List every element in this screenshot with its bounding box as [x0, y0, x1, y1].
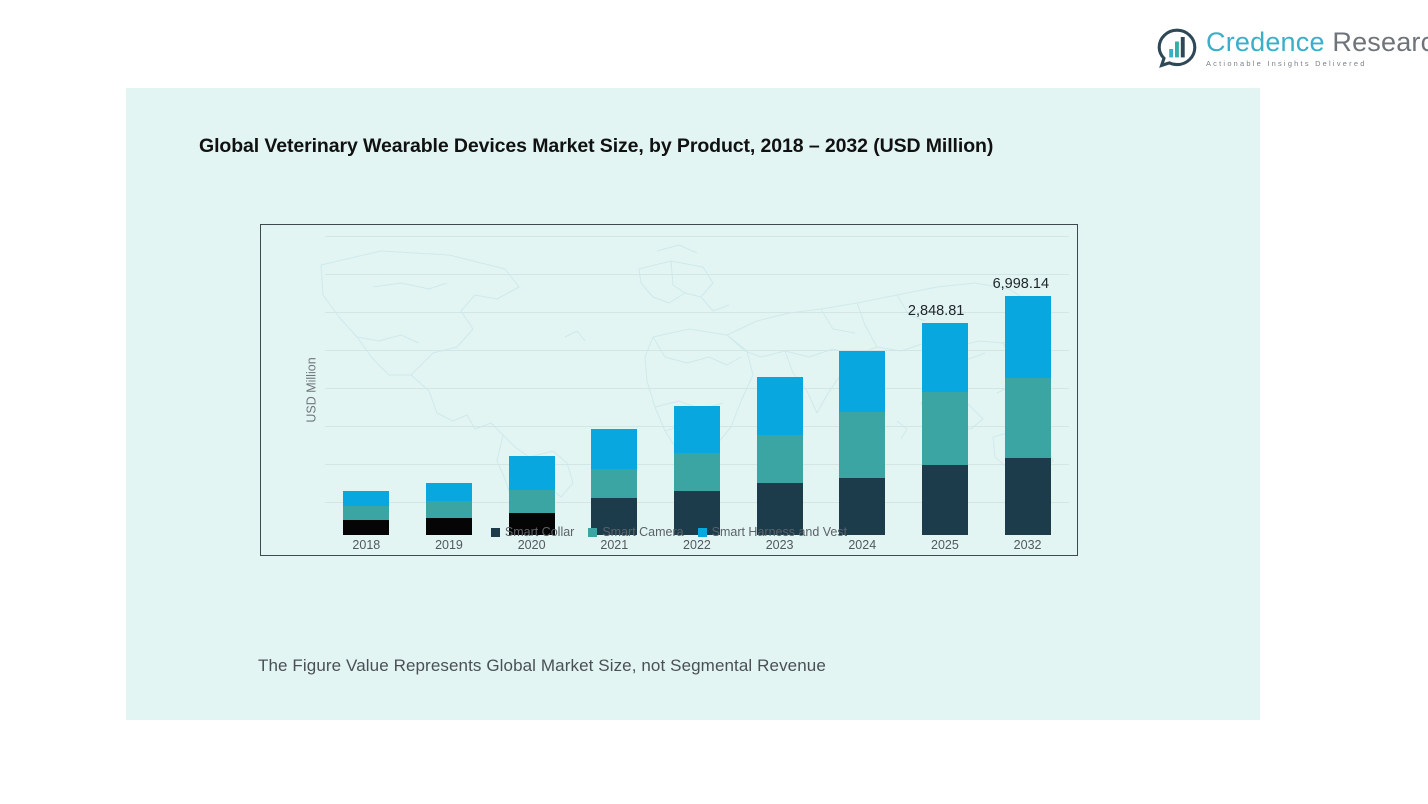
bar-group-2024[interactable] — [839, 225, 885, 535]
chart-footnote: The Figure Value Represents Global Marke… — [258, 656, 826, 676]
segment-smart-camera[interactable] — [922, 392, 968, 465]
x-tick-2032: 2032 — [1005, 538, 1051, 552]
x-tick-2024: 2024 — [839, 538, 885, 552]
segment-smart-harness-and-vest[interactable] — [674, 406, 720, 453]
stacked-bar[interactable] — [1005, 296, 1051, 535]
legend-label-smart-camera: Smart Camera — [602, 525, 683, 539]
x-tick-2021: 2021 — [591, 538, 637, 552]
stacked-bar[interactable] — [509, 456, 555, 535]
segment-smart-harness-and-vest[interactable] — [1005, 296, 1051, 378]
segment-smart-camera[interactable] — [426, 501, 472, 518]
legend-swatch-smart-harness-and-vest — [698, 528, 707, 537]
bar-series-container: 2,848.81 6,998.14 — [325, 225, 1069, 535]
segment-smart-camera[interactable] — [343, 506, 389, 520]
plot-inner: 2,848.81 6,998.14 — [325, 225, 1069, 555]
bar-group-2020[interactable] — [509, 225, 555, 535]
stacked-bar[interactable] — [591, 429, 637, 535]
logo-name-secondary: Research — [1332, 27, 1428, 57]
bar-chart-speech-bubble-icon — [1157, 28, 1197, 68]
logo-wordmark: Credence Research Actionable Insights De… — [1206, 29, 1428, 67]
segment-smart-camera[interactable] — [839, 412, 885, 478]
segment-smart-harness-and-vest[interactable] — [922, 323, 968, 392]
segment-smart-collar[interactable] — [1005, 458, 1051, 535]
segment-smart-harness-and-vest[interactable] — [509, 456, 555, 490]
legend-swatch-smart-camera — [588, 528, 597, 537]
bar-value-label-2032: 6,998.14 — [993, 276, 1049, 292]
plot-area: USD Million — [260, 224, 1078, 556]
chart-card: Global Veterinary Wearable Devices Marke… — [126, 88, 1260, 720]
page-root: Credence Research Actionable Insights De… — [0, 0, 1428, 804]
bar-group-2018[interactable] — [343, 225, 389, 535]
segment-smart-harness-and-vest[interactable] — [343, 491, 389, 506]
x-tick-2018: 2018 — [343, 538, 389, 552]
credence-research-logo: Credence Research Actionable Insights De… — [1157, 28, 1428, 68]
chart-legend: Smart Collar Smart Camera Smart Harness … — [261, 525, 1077, 539]
chart-title: Global Veterinary Wearable Devices Marke… — [199, 135, 993, 158]
segment-smart-harness-and-vest[interactable] — [757, 377, 803, 435]
stacked-bar[interactable] — [674, 406, 720, 535]
stacked-bar[interactable] — [922, 323, 968, 535]
segment-smart-harness-and-vest[interactable] — [839, 351, 885, 412]
logo-tagline: Actionable Insights Delivered — [1206, 60, 1428, 67]
segment-smart-camera[interactable] — [674, 453, 720, 491]
logo-name-primary: Credence — [1206, 27, 1325, 57]
segment-smart-harness-and-vest[interactable] — [426, 483, 472, 501]
stacked-bar[interactable] — [839, 351, 885, 535]
segment-smart-camera[interactable] — [509, 490, 555, 513]
segment-smart-camera[interactable] — [1005, 378, 1051, 458]
bar-value-label-2025: 2,848.81 — [908, 303, 964, 319]
y-axis-label: USD Million — [305, 357, 319, 422]
x-tick-2019: 2019 — [426, 538, 472, 552]
bar-group-2032[interactable]: 6,998.14 — [1005, 225, 1051, 535]
x-tick-2022: 2022 — [674, 538, 720, 552]
legend-item-smart-collar[interactable]: Smart Collar — [491, 525, 574, 539]
segment-smart-harness-and-vest[interactable] — [591, 429, 637, 469]
segment-smart-camera[interactable] — [591, 469, 637, 498]
bar-group-2022[interactable] — [674, 225, 720, 535]
bar-group-2019[interactable] — [426, 225, 472, 535]
legend-label-smart-collar: Smart Collar — [505, 525, 574, 539]
segment-smart-camera[interactable] — [757, 435, 803, 483]
x-tick-2025: 2025 — [922, 538, 968, 552]
x-tick-2023: 2023 — [757, 538, 803, 552]
legend-item-smart-camera[interactable]: Smart Camera — [588, 525, 683, 539]
bar-group-2021[interactable] — [591, 225, 637, 535]
stacked-bar[interactable] — [757, 377, 803, 535]
x-tick-2020: 2020 — [509, 538, 555, 552]
bar-group-2023[interactable] — [757, 225, 803, 535]
legend-swatch-smart-collar — [491, 528, 500, 537]
bar-group-2025[interactable]: 2,848.81 — [922, 225, 968, 535]
legend-item-smart-harness-and-vest[interactable]: Smart Harness and Vest — [698, 525, 847, 539]
legend-label-smart-harness-and-vest: Smart Harness and Vest — [712, 525, 847, 539]
